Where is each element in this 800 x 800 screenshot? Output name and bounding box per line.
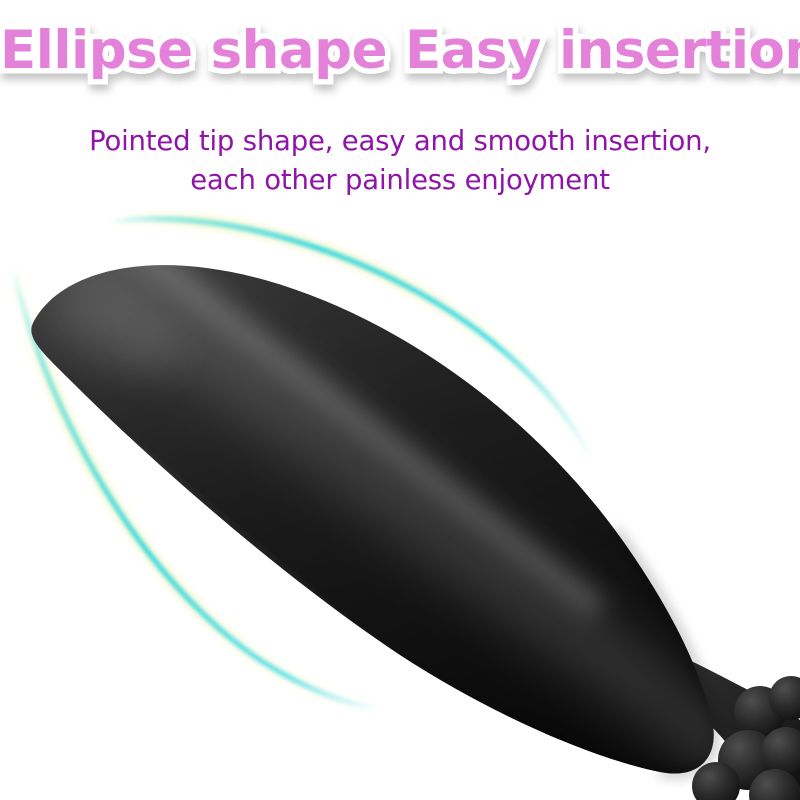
- product-image: [0, 200, 800, 800]
- subtitle: Pointed tip shape, easy and smooth inser…: [0, 122, 800, 200]
- product-illustration: [0, 200, 800, 800]
- headline-container: Ellipse shape Easy insertion: [0, 22, 800, 79]
- subtitle-line-1: Pointed tip shape, easy and smooth inser…: [0, 122, 800, 161]
- page-title: Ellipse shape Easy insertion: [0, 22, 800, 79]
- product-body: [0, 200, 800, 800]
- text-block: Ellipse shape Easy insertion Pointed tip…: [0, 0, 800, 215]
- product-feature-banner: Ellipse shape Easy insertion Pointed tip…: [0, 0, 800, 800]
- subtitle-line-2: each other painless enjoyment: [0, 161, 800, 200]
